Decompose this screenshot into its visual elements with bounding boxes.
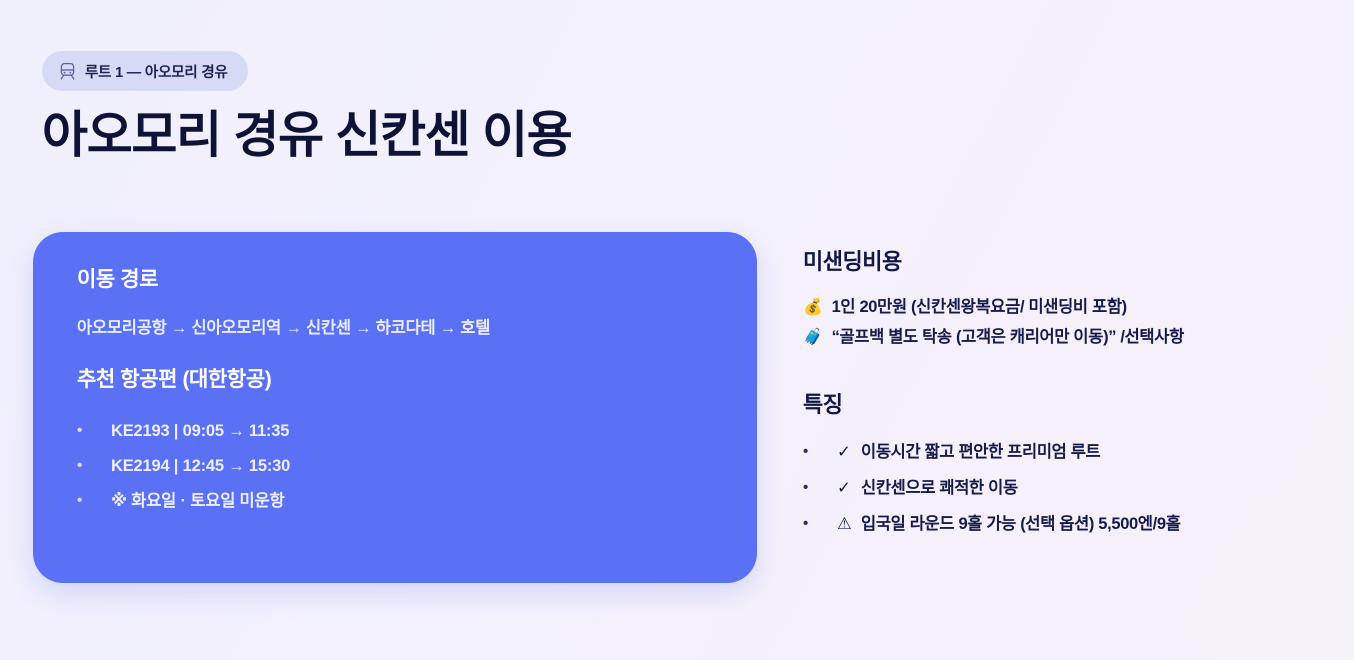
list-item: • ※ 화요일 · 토요일 미운항 [77,485,717,520]
luggage-icon: 🧳 [803,329,823,345]
list-item: • KE2193 | 09:05 → 11:35 [77,415,717,450]
route-card-heading-flights: 추천 항공편 (대한항공) [77,366,717,393]
list-item: 🧳 “골프백 별도 탁송 (고객은 캐리어만 이동)” /선택사항 [803,322,1323,353]
bullet-icon: • [77,458,111,473]
bullet-icon: • [77,493,111,508]
list-item: • ⚠ 입국일 라운드 9홀 가능 (선택 옵션) 5,500엔/9홀 [803,506,1323,542]
list-item: • KE2194 | 12:45 → 15:30 [77,450,717,485]
feature-item-text: 이동시간 짧고 편안한 프리미엄 루트 [861,440,1323,465]
route-card-heading-route: 이동 경로 [77,266,717,293]
cost-item-text: “골프백 별도 탁송 (고객은 캐리어만 이동)” /선택사항 [832,325,1184,350]
flight-item-text: KE2194 | 12:45 → 15:30 [111,455,717,479]
route-badge-label: 루트 1 — 아오모리 경유 [85,61,228,82]
features-section-heading: 특징 [803,391,1323,419]
flight-list: • KE2193 | 09:05 → 11:35 • KE2194 | 12:4… [77,415,717,520]
warning-icon: ⚠ [837,512,861,537]
list-item: 💰 1인 20만원 (신칸센왕복요금/ 미샌딩비 포함) [803,292,1323,323]
check-icon: ✓ [837,440,861,465]
feature-item-text: 입국일 라운드 9홀 가능 (선택 옵션) 5,500엔/9홀 [861,512,1323,537]
feature-list: • ✓ 이동시간 짧고 편안한 프리미엄 루트 • ✓ 신칸센으로 쾌적한 이동… [803,435,1323,542]
feature-item-text: 신칸센으로 쾌적한 이동 [861,476,1323,501]
cost-section-heading: 미샌딩비용 [803,248,1323,276]
route-badge: 루트 1 — 아오모리 경유 [42,51,248,91]
cost-item-text: 1인 20만원 (신칸센왕복요금/ 미샌딩비 포함) [832,295,1127,320]
check-icon: ✓ [837,476,861,501]
route-path-text: 아오모리공항 → 신아오모리역 → 신칸센 → 하코다테 → 호텔 [77,317,717,340]
list-item: • ✓ 이동시간 짧고 편안한 프리미엄 루트 [803,435,1323,471]
flight-item-text: ※ 화요일 · 토요일 미운항 [111,490,717,514]
slide-root: 루트 1 — 아오모리 경유 아오모리 경유 신칸센 이용 이동 경로 아오모리… [0,0,1354,660]
bullet-icon: • [803,444,837,459]
flight-item-text: KE2193 | 09:05 → 11:35 [111,420,717,444]
money-bag-icon: 💰 [803,299,823,315]
right-column: 미샌딩비용 💰 1인 20만원 (신칸센왕복요금/ 미샌딩비 포함) 🧳 “골프… [803,248,1323,542]
bullet-icon: • [77,423,111,438]
bullet-icon: • [803,480,837,495]
cost-list: 💰 1인 20만원 (신칸센왕복요금/ 미샌딩비 포함) 🧳 “골프백 별도 탁… [803,292,1323,354]
page-title: 아오모리 경유 신칸센 이용 [42,107,571,164]
list-item: • ✓ 신칸센으로 쾌적한 이동 [803,470,1323,506]
bullet-icon: • [803,516,837,531]
route-card: 이동 경로 아오모리공항 → 신아오모리역 → 신칸센 → 하코다테 → 호텔 … [33,232,757,583]
train-icon [59,62,76,81]
